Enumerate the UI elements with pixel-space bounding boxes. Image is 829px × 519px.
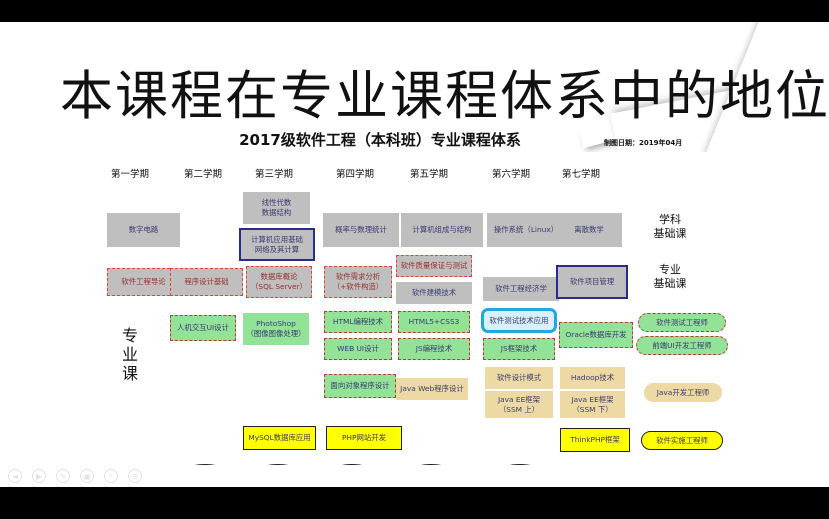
course-box-web-ui[interactable]: WEB UI设计 <box>324 338 392 360</box>
course-box-requirements-analysis[interactable]: 软件需求分析 （+软件构造） <box>324 266 392 298</box>
course-box-database-intro[interactable]: 数据库概论 （SQL Server） <box>246 266 312 298</box>
semester-header-4: 第四学期 <box>315 166 395 180</box>
career-pill-test-engineer[interactable]: 软件测试工程师 <box>638 313 726 332</box>
course-box-operating-system[interactable]: 操作系统（Linux） <box>487 213 565 247</box>
course-box-php[interactable]: PHP网站开发 <box>326 426 402 450</box>
course-box-project-management[interactable]: 软件项目管理 <box>556 265 628 299</box>
course-box-programming-basics[interactable]: 程序设计基础 <box>170 268 243 296</box>
slide-title: 本课程在专业课程体系中的地位 <box>60 70 780 123</box>
course-box-hadoop[interactable]: Hadoop技术 <box>560 367 625 389</box>
semester-header-5: 第五学期 <box>389 166 469 180</box>
presentation-control-bar: ◄ ▶ ✎ ▣ ⌕ ⊝ <box>0 465 829 487</box>
career-pill-java-engineer[interactable]: Java开发工程师 <box>644 383 722 402</box>
course-box-se-economics[interactable]: 软件工程经济学 <box>483 277 559 301</box>
slides-icon[interactable]: ▣ <box>80 469 94 483</box>
zoom-icon[interactable]: ⌕ <box>104 469 118 483</box>
course-box-html5-css3[interactable]: HTML5+CSS3 <box>398 311 470 333</box>
course-box-mysql[interactable]: MySQL数据库应用 <box>243 426 316 450</box>
semester-header-1: 第一学期 <box>90 166 170 180</box>
pen-icon[interactable]: ✎ <box>56 469 70 483</box>
course-box-html[interactable]: HTML编程技术 <box>324 311 392 333</box>
bottom-letterbox <box>0 487 829 519</box>
semester-header-6: 第六学期 <box>471 166 551 180</box>
category-label-major-basic: 专业 基础课 <box>640 263 700 291</box>
play-icon[interactable]: ▶ <box>32 469 46 483</box>
course-box-probability[interactable]: 概率与数理统计 <box>323 213 399 247</box>
course-box-modeling[interactable]: 软件建模技术 <box>396 282 472 304</box>
course-box-linear-algebra[interactable]: 线性代数 数据结构 <box>243 192 310 224</box>
course-box-oop[interactable]: 面向对象程序设计 <box>324 374 396 398</box>
course-box-software-testing-tech[interactable]: 软件测试技术应用 <box>481 308 557 333</box>
category-label-major: 专业课 <box>120 327 140 384</box>
course-box-javaee-ssm-2[interactable]: Java EE框架 （SSM 下） <box>560 391 625 418</box>
course-box-digital-circuit[interactable]: 数字电路 <box>107 213 180 247</box>
chart-date: 制图日期：2019年04月 <box>604 138 682 148</box>
course-box-hci-ui[interactable]: 人机交互UI设计 <box>170 315 236 341</box>
course-box-computer-basics[interactable]: 计算机应用基础 网络及其计算 <box>239 228 315 261</box>
category-label-basic: 学科 基础课 <box>640 213 700 241</box>
semester-header-3: 第三学期 <box>234 166 314 180</box>
semester-header-7: 第七学期 <box>541 166 621 180</box>
course-box-photoshop[interactable]: PhotoShop （图像图像处理） <box>243 313 309 345</box>
course-box-design-patterns[interactable]: 软件设计模式 <box>485 367 553 389</box>
semester-header-2: 第二学期 <box>163 166 243 180</box>
course-box-javaee-ssm-1[interactable]: Java EE框架 （SSM 上） <box>485 391 553 418</box>
presentation-slide: 本课程在专业课程体系中的地位 2017级软件工程（本科班）专业课程体系 制图日期… <box>0 22 829 487</box>
course-box-js[interactable]: JS编程技术 <box>398 338 470 360</box>
career-pill-frontend-engineer[interactable]: 前端UI开发工程师 <box>636 336 728 355</box>
top-letterbox <box>0 0 829 22</box>
course-box-oracle[interactable]: Oracle数据库开发 <box>559 322 633 348</box>
course-box-quality-testing[interactable]: 软件质量保证与测试 <box>396 255 472 277</box>
career-pill-implementation-engineer[interactable]: 软件实施工程师 <box>641 431 723 450</box>
course-box-discrete-math[interactable]: 离散数学 <box>556 213 622 247</box>
course-box-js-framework[interactable]: JS框架技术 <box>483 338 555 360</box>
course-box-java-web[interactable]: Java Web程序设计 <box>396 378 468 400</box>
more-icon[interactable]: ⊝ <box>128 469 142 483</box>
course-box-thinkphp[interactable]: ThinkPHP框架 <box>560 428 630 452</box>
course-box-computer-organization[interactable]: 计算机组成与结构 <box>401 213 483 247</box>
back-icon[interactable]: ◄ <box>8 469 22 483</box>
